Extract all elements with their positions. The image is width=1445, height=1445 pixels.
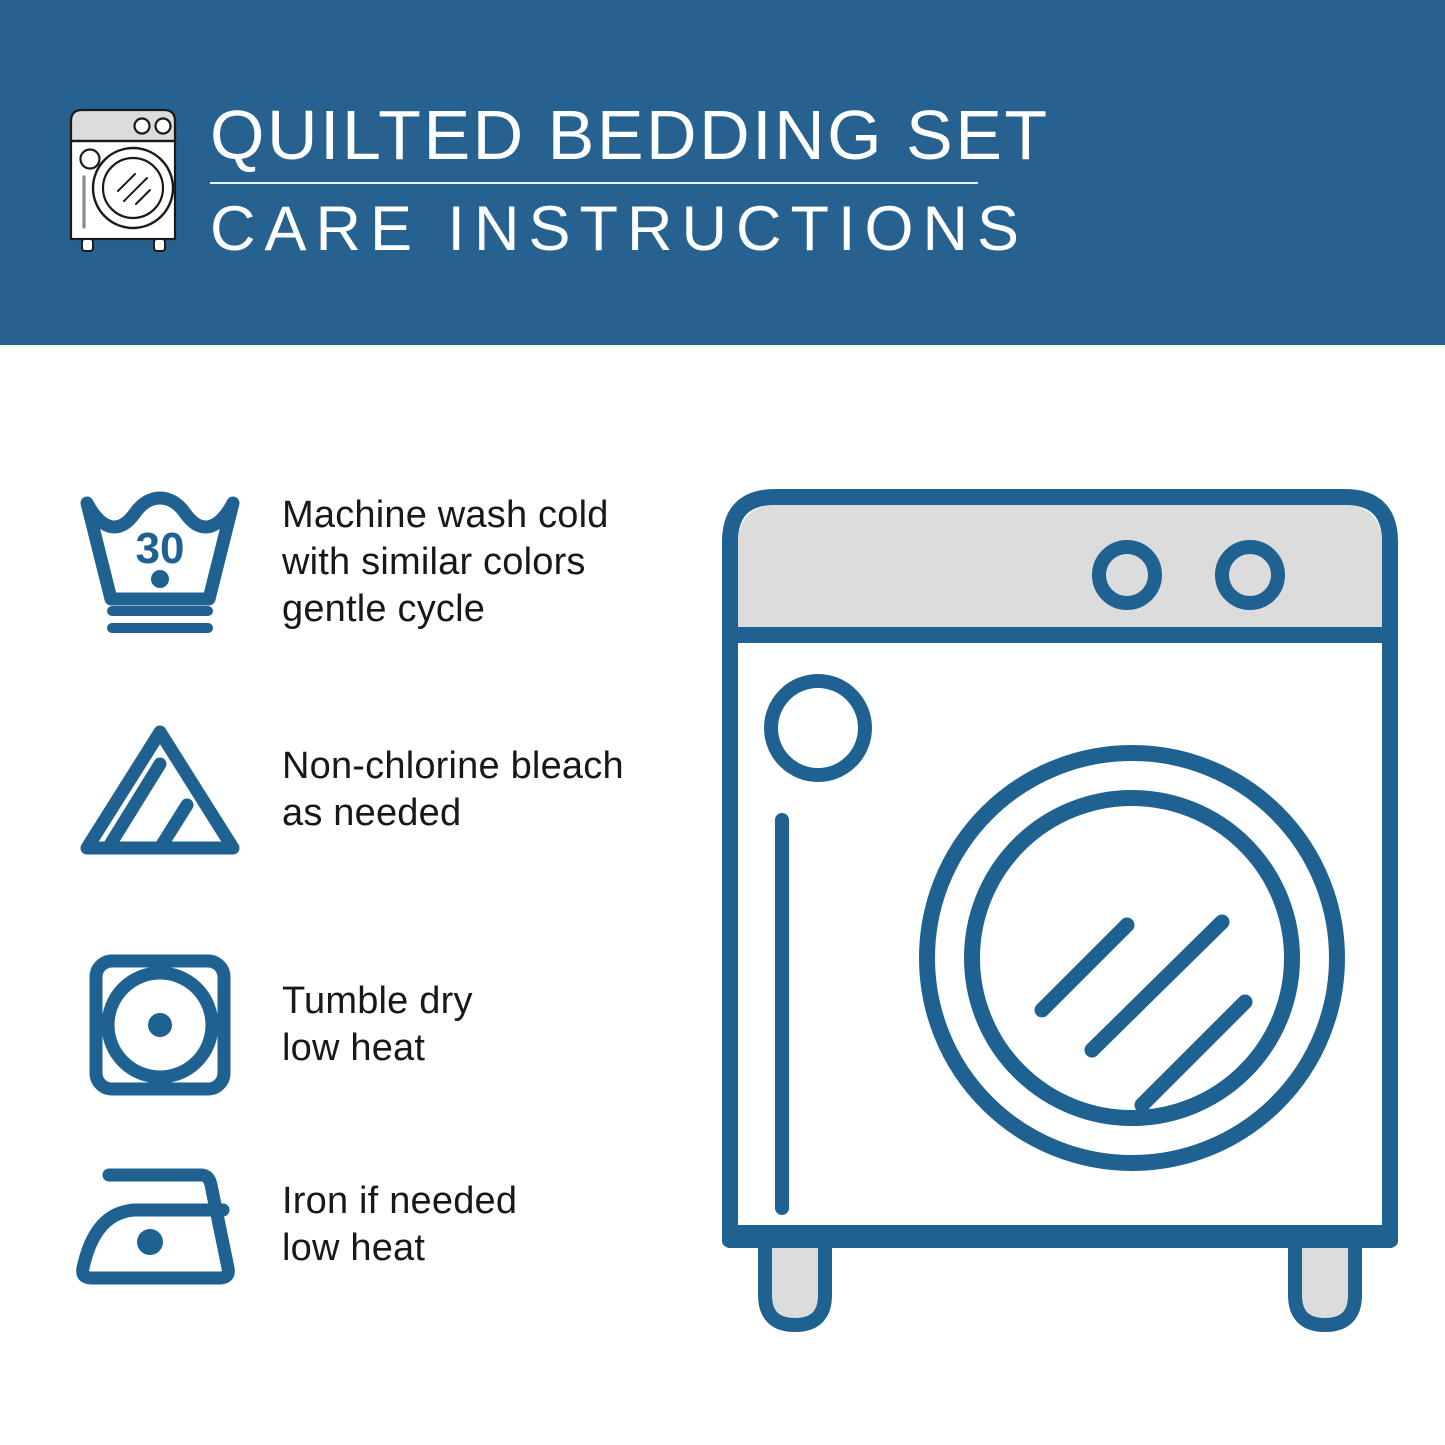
care-label-line: Tumble dry <box>282 978 473 1025</box>
header-banner: QUILTED BEDDING SET CARE INSTRUCTIONS <box>0 0 1445 345</box>
care-label-line: low heat <box>282 1225 517 1272</box>
front-load-washing-machine-illustration <box>700 440 1420 1370</box>
care-label-line: with similar colors <box>282 539 609 586</box>
care-label-tumble-dry: Tumble dry low heat <box>282 978 473 1072</box>
care-instructions-list: 30 Machine wash cold with similar colors… <box>0 345 700 1445</box>
care-label-non-chlorine-bleach: Non-chlorine bleach as needed <box>282 743 624 837</box>
care-row-non-chlorine-bleach: Non-chlorine bleach as needed <box>70 720 690 860</box>
care-label-iron: Iron if needed low heat <box>282 1178 517 1272</box>
tumble-dry-low-heat-icon <box>70 950 250 1100</box>
care-label-line: Iron if needed <box>282 1178 517 1225</box>
care-label-line: as needed <box>282 790 624 837</box>
care-row-machine-wash: 30 Machine wash cold with similar colors… <box>70 487 690 637</box>
wash-tub-30-gentle-icon: 30 <box>70 487 250 637</box>
washing-machine-icon <box>62 103 184 253</box>
header-title-group: QUILTED BEDDING SET CARE INSTRUCTIONS <box>210 96 1000 264</box>
care-row-tumble-dry: Tumble dry low heat <box>70 950 690 1100</box>
care-row-iron: Iron if needed low heat <box>70 1160 690 1290</box>
care-label-line: Non-chlorine bleach <box>282 743 624 790</box>
leg-right <box>1295 1240 1355 1325</box>
care-label-line: gentle cycle <box>282 586 609 633</box>
iron-low-heat-icon <box>70 1160 250 1290</box>
title-divider <box>210 182 978 184</box>
page-subtitle: CARE INSTRUCTIONS <box>210 194 1000 264</box>
page-title: QUILTED BEDDING SET <box>210 96 1000 174</box>
leg-left <box>765 1240 825 1325</box>
care-label-machine-wash: Machine wash cold with similar colors ge… <box>282 492 609 633</box>
care-label-line: Machine wash cold <box>282 492 609 539</box>
care-label-line: low heat <box>282 1025 473 1072</box>
svg-text:30: 30 <box>136 524 185 573</box>
non-chlorine-bleach-triangle-icon <box>70 720 250 860</box>
